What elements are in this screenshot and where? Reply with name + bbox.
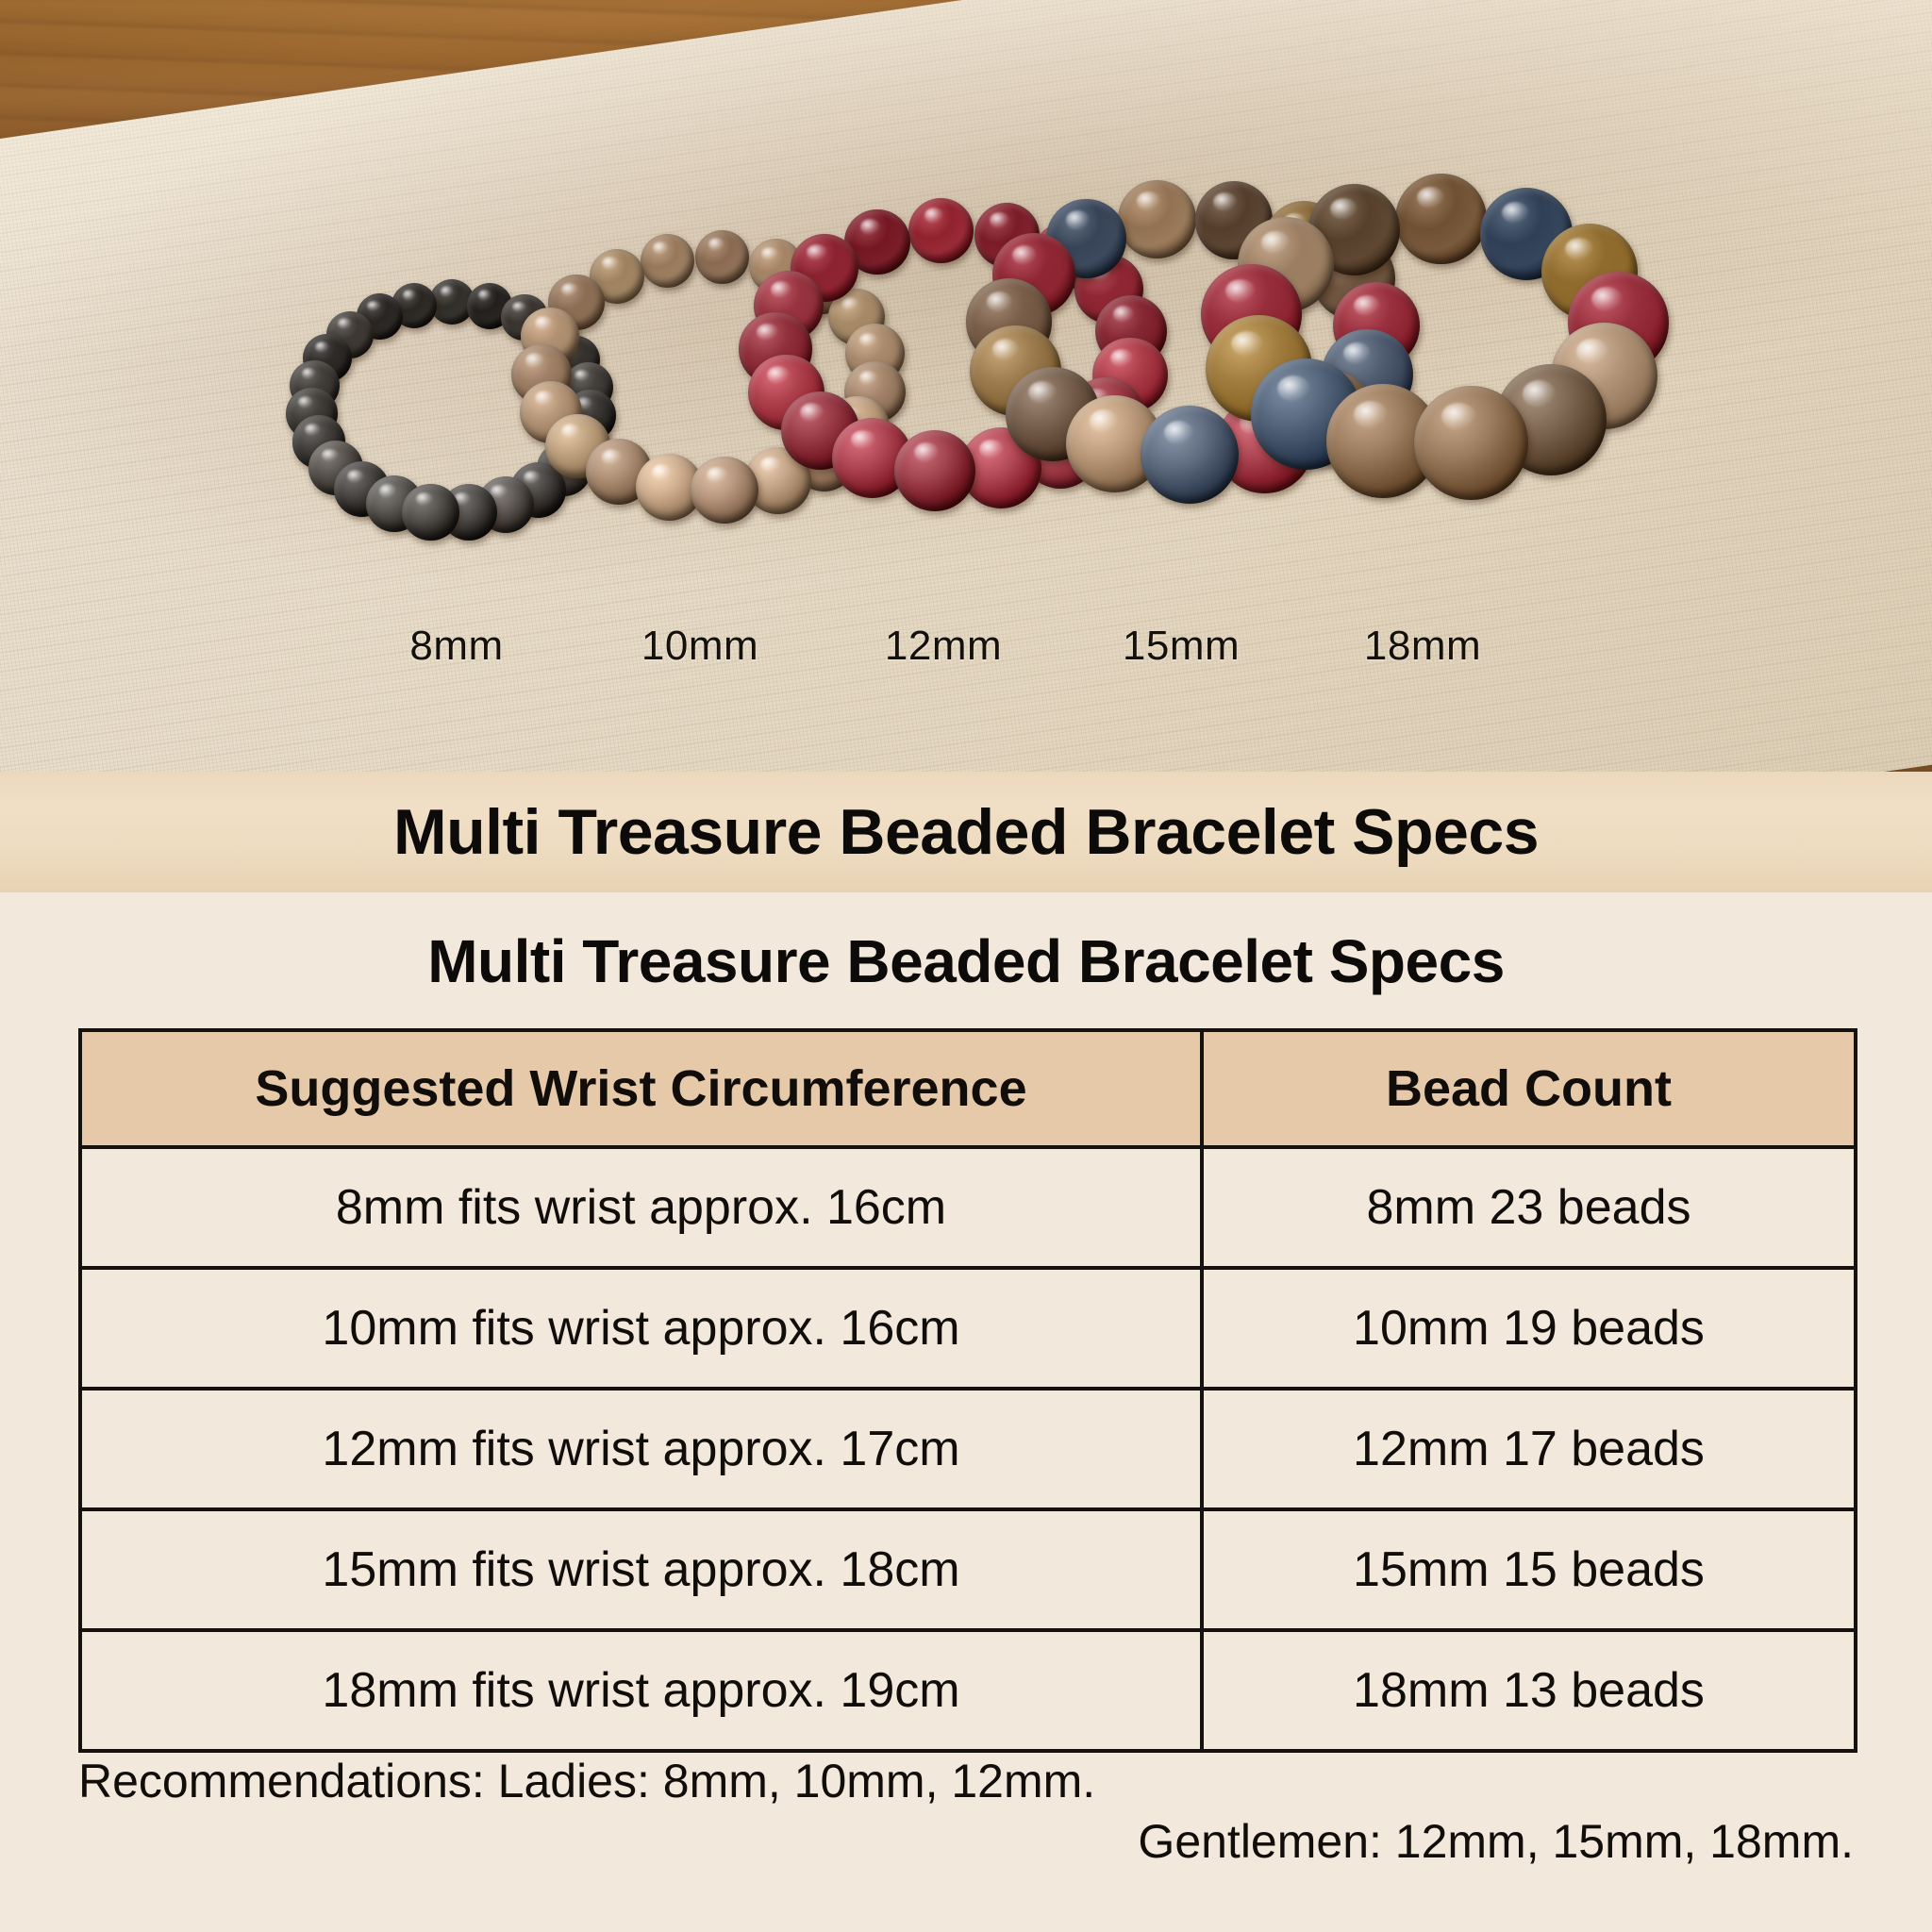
column-header-bead-count: Bead Count [1202, 1030, 1856, 1147]
cell-bead-count: 18mm 13 beads [1202, 1630, 1856, 1751]
cell-wrist-circumference: 12mm fits wrist approx. 17cm [80, 1389, 1202, 1509]
recommendations-gentlemen-line: Gentlemen: 12mm, 15mm, 18mm. [78, 1811, 1854, 1872]
size-label-18mm: 18mm [1364, 623, 1481, 670]
title-banner: Multi Treasure Beaded Bracelet Specs [0, 772, 1932, 892]
bead [1414, 386, 1528, 500]
table-row: 8mm fits wrist approx. 16cm8mm 23 beads [80, 1147, 1856, 1268]
column-header-wrist-circumference: Suggested Wrist Circumference [80, 1030, 1202, 1147]
cell-wrist-circumference: 8mm fits wrist approx. 16cm [80, 1147, 1202, 1268]
size-label-15mm: 15mm [1123, 623, 1240, 670]
table-row: 18mm fits wrist approx. 19cm18mm 13 bead… [80, 1630, 1856, 1751]
cell-bead-count: 12mm 17 beads [1202, 1389, 1856, 1509]
banner-title: Multi Treasure Beaded Bracelet Specs [393, 795, 1539, 869]
recommendations-footer: Recommendations: Ladies: 8mm, 10mm, 12mm… [78, 1751, 1854, 1872]
cell-bead-count: 8mm 23 beads [1202, 1147, 1856, 1268]
table-row: 12mm fits wrist approx. 17cm12mm 17 bead… [80, 1389, 1856, 1509]
spec-table: Suggested Wrist Circumference Bead Count… [78, 1028, 1857, 1753]
bead [1395, 174, 1486, 264]
cell-bead-count: 15mm 15 beads [1202, 1509, 1856, 1630]
recommendations-ladies-line: Recommendations: Ladies: 8mm, 10mm, 12mm… [78, 1751, 1854, 1811]
table-row: 15mm fits wrist approx. 18cm15mm 15 bead… [80, 1509, 1856, 1630]
spec-panel: Multi Treasure Beaded Bracelet Specs Sug… [0, 892, 1932, 1932]
cell-wrist-circumference: 15mm fits wrist approx. 18cm [80, 1509, 1202, 1630]
product-spec-infographic: 8mm10mm12mm15mm18mm Multi Treasure Beade… [0, 0, 1932, 1932]
size-label-10mm: 10mm [641, 623, 758, 670]
size-label-12mm: 12mm [885, 623, 1002, 670]
panel-title: Multi Treasure Beaded Bracelet Specs [0, 926, 1932, 996]
bracelet-photo: 8mm10mm12mm15mm18mm [0, 0, 1932, 772]
cell-wrist-circumference: 18mm fits wrist approx. 19cm [80, 1630, 1202, 1751]
cell-wrist-circumference: 10mm fits wrist approx. 16cm [80, 1268, 1202, 1389]
cell-bead-count: 10mm 19 beads [1202, 1268, 1856, 1389]
table-header-row: Suggested Wrist Circumference Bead Count [80, 1030, 1856, 1147]
size-label-8mm: 8mm [409, 623, 503, 670]
table-row: 10mm fits wrist approx. 16cm10mm 19 bead… [80, 1268, 1856, 1389]
